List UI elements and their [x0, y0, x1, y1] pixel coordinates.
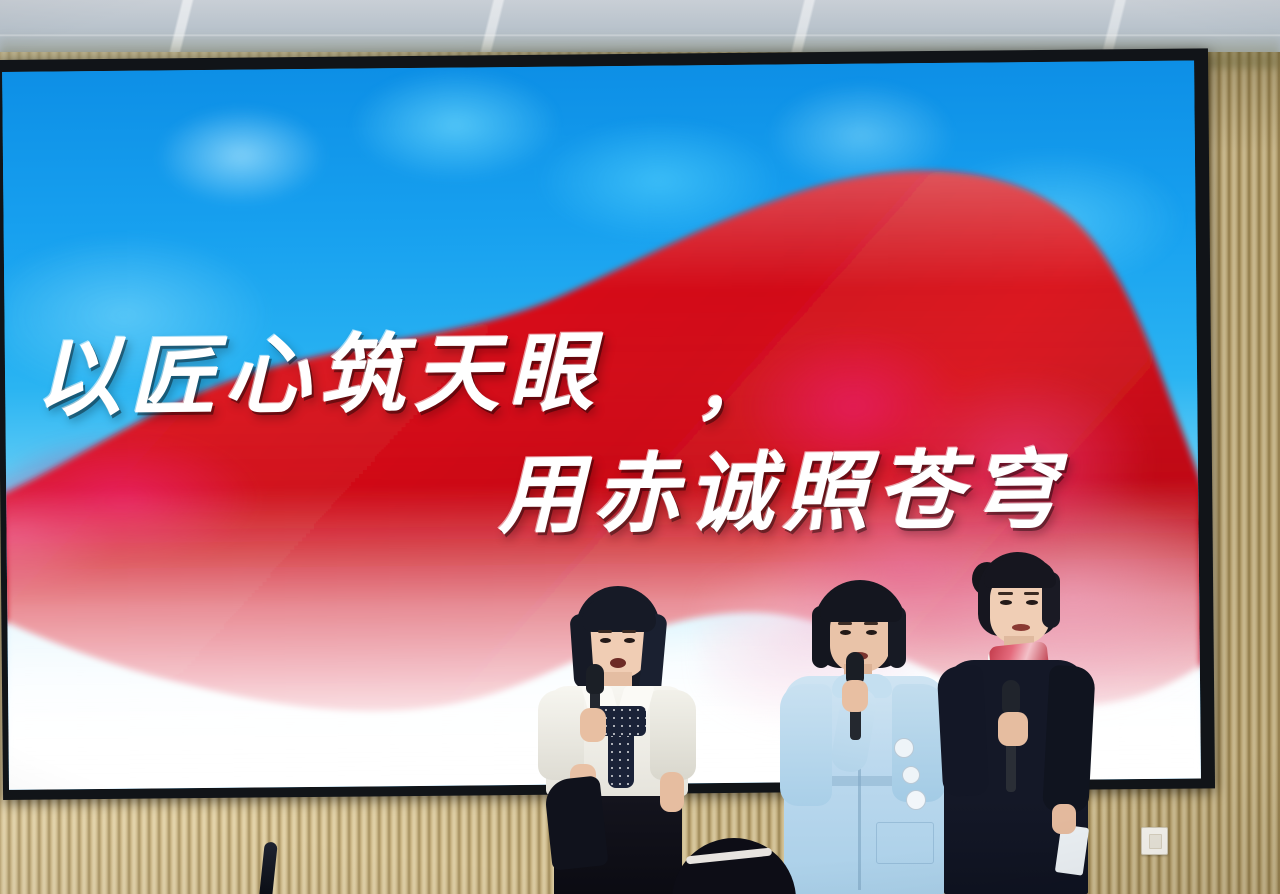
eye-right: [866, 630, 877, 635]
eye-left: [840, 630, 851, 635]
eyebrow-left: [598, 630, 612, 633]
headline-comma: ，: [695, 333, 773, 435]
forearm-right: [660, 772, 684, 812]
badge-1: [894, 738, 914, 758]
headline-line-1: 以匠心筑天眼: [34, 302, 603, 432]
microphone-head: [1002, 680, 1020, 714]
sleeve-left: [780, 684, 832, 806]
hand-holding-microphone: [580, 708, 606, 742]
microphone-body: [1006, 738, 1016, 792]
eyebrow-right: [864, 622, 878, 625]
necktie-tail: [608, 732, 634, 788]
stage-scene: 以匠心筑天眼 ， 用赤诚照苍穹: [0, 0, 1280, 894]
hair-bangs: [582, 598, 656, 632]
eyebrow-right: [622, 630, 636, 633]
headline-line-2: 用赤诚照苍穹: [498, 420, 1067, 550]
shoulder-bag: [543, 775, 608, 870]
speaker-right: [942, 552, 1092, 894]
eye-left: [600, 638, 611, 643]
eyebrow-left: [998, 592, 1013, 595]
speaker-left: [524, 586, 704, 894]
eye-right: [1026, 600, 1038, 605]
eye-right: [624, 638, 635, 643]
hair-bangs: [820, 590, 902, 622]
wall-light-switch[interactable]: [1141, 827, 1168, 855]
mouth: [610, 658, 626, 668]
eye-left: [1000, 600, 1012, 605]
badge-2: [902, 766, 920, 784]
hair-top: [984, 560, 1056, 588]
hand-holding-microphone: [998, 712, 1028, 746]
eyebrow-right: [1024, 592, 1039, 595]
mouth: [1012, 624, 1030, 631]
coat-pocket: [876, 822, 934, 864]
microphone-head: [586, 664, 604, 694]
sleeve-right: [650, 690, 696, 780]
sleeve-right: [1042, 665, 1096, 813]
hand-holding-microphone: [842, 680, 868, 712]
eyebrow-left: [838, 622, 852, 625]
badge-3: [906, 790, 926, 810]
hand-right: [1052, 804, 1076, 834]
sleeve-left: [937, 665, 990, 797]
speaker-center: [780, 580, 950, 894]
